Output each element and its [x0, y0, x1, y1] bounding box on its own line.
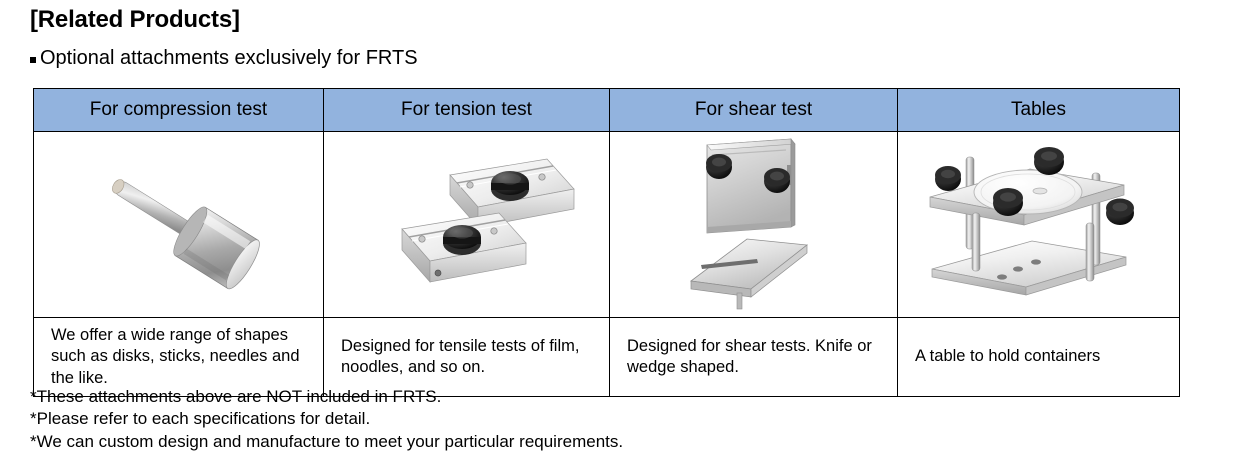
compression-probe-svg: [64, 137, 294, 312]
footnote-3: *We can custom design and manufacture to…: [30, 431, 623, 453]
shear-blade-svg: [629, 135, 879, 315]
caption-shear: Designed for shear tests. Knife or wedge…: [610, 318, 898, 397]
table-caption-row: We offer a wide range of shapes such as …: [34, 318, 1180, 397]
tension-clamps-image: [342, 137, 592, 312]
page-title: [Related Products]: [30, 6, 240, 34]
column-header-shear: For shear test: [610, 89, 898, 132]
column-header-compression: For compression test: [34, 89, 324, 132]
caption-compression: We offer a wide range of shapes such as …: [34, 318, 324, 397]
column-header-tension: For tension test: [324, 89, 610, 132]
compression-probe-image: [64, 137, 294, 312]
shear-blade-image: [629, 135, 879, 315]
footnote-1: *These attachments above are NOT include…: [30, 386, 623, 408]
table-image-row: [34, 132, 1180, 318]
footnote-2: *Please refer to each specifications for…: [30, 408, 623, 430]
cell-image-tension: [324, 132, 610, 318]
cell-image-tables: [898, 132, 1180, 318]
table-header-row: For compression test For tension test Fo…: [34, 89, 1180, 132]
container-table-image: [914, 135, 1164, 315]
tension-clamps-svg: [342, 137, 592, 312]
caption-tension: Designed for tensile tests of film, nood…: [324, 318, 610, 397]
subtitle-text: Optional attachments exclusively for FRT…: [40, 47, 418, 70]
cell-image-shear: [610, 132, 898, 318]
column-header-tables: Tables: [898, 89, 1180, 132]
cell-image-compression: [34, 132, 324, 318]
container-table-svg: [914, 135, 1164, 315]
related-products-table: For compression test For tension test Fo…: [33, 88, 1180, 397]
square-bullet-icon: [30, 57, 36, 63]
subtitle-row: Optional attachments exclusively for FRT…: [30, 47, 418, 70]
footnotes: *These attachments above are NOT include…: [30, 386, 623, 453]
caption-tables: A table to hold containers: [898, 318, 1180, 397]
